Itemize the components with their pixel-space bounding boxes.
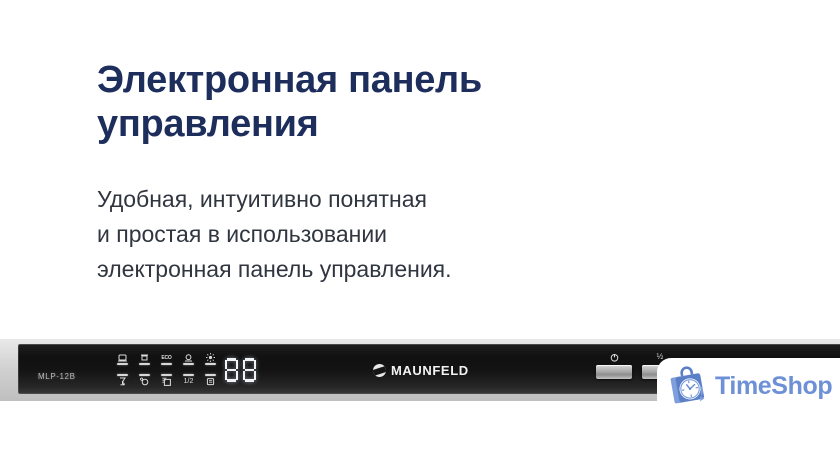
indicator-bar [183, 363, 194, 365]
delay-start-glyph [160, 377, 173, 386]
indicator-bar [161, 363, 172, 365]
dishwasher-quick-glyph [182, 353, 195, 362]
program-indicator-row-top: ECO [116, 353, 217, 365]
seven-segment-display: 88 [224, 358, 257, 382]
power-button-cap[interactable] [596, 365, 632, 379]
dishwasher-intensive-glyph [116, 353, 129, 362]
indicator-bar [205, 363, 216, 365]
rinse-aid-glyph [204, 377, 217, 386]
program-indicator-row-bottom: 1/2 [116, 374, 217, 386]
half-load-label: 1/2 [184, 378, 194, 386]
prewash-program-glyph [138, 377, 151, 386]
indicator-bar [205, 374, 216, 376]
program-indicator-cluster: ECO [116, 353, 217, 386]
hero-text-block: Электронная панель управления Удобная, и… [97, 58, 717, 287]
brand-logo: MAUNFELD [373, 363, 469, 378]
dishwasher-normal-icon[interactable] [138, 353, 151, 365]
dishwasher-quick-icon[interactable] [182, 353, 195, 365]
power-icon [610, 352, 619, 362]
brand-name: MAUNFELD [391, 363, 469, 378]
indicator-bar [183, 374, 194, 376]
display-digit-1 [224, 358, 239, 382]
dishwasher-auto-icon[interactable] [204, 353, 217, 365]
power-button[interactable] [596, 352, 632, 379]
indicator-bar [139, 363, 150, 365]
indicator-bar [117, 363, 128, 365]
model-label: MLP-12B [38, 372, 76, 381]
indicator-bar [161, 374, 172, 376]
glass-program-icon[interactable] [116, 374, 129, 386]
eco-program-icon[interactable]: ECO [160, 353, 173, 365]
timeshop-watermark: TimeShop [657, 358, 840, 414]
dishwasher-intensive-icon[interactable] [116, 353, 129, 365]
eco-label: ECO [161, 354, 171, 362]
page-description: Удобная, интуитивно понятная и простая в… [97, 146, 717, 287]
timeshop-brand-label: TimeShop [715, 372, 832, 401]
dishwasher-auto-glyph [204, 353, 217, 362]
glass-program-glyph [116, 377, 129, 386]
half-load-glyph: 1/2 [182, 377, 195, 386]
page-title: Электронная панель управления [97, 58, 717, 146]
rinse-aid-icon[interactable] [204, 374, 217, 386]
delay-start-icon[interactable] [160, 374, 173, 386]
prewash-program-icon[interactable] [138, 374, 151, 386]
dishwasher-normal-glyph [138, 353, 151, 362]
display-digit-2 [242, 358, 257, 382]
shopping-bag-clock-icon [669, 366, 709, 406]
eco-program-glyph: ECO [160, 353, 173, 362]
indicator-bar [139, 374, 150, 376]
maunfeld-emblem-icon [373, 364, 386, 377]
indicator-bar [117, 374, 128, 376]
half-load-icon[interactable]: 1/2 [182, 374, 195, 386]
